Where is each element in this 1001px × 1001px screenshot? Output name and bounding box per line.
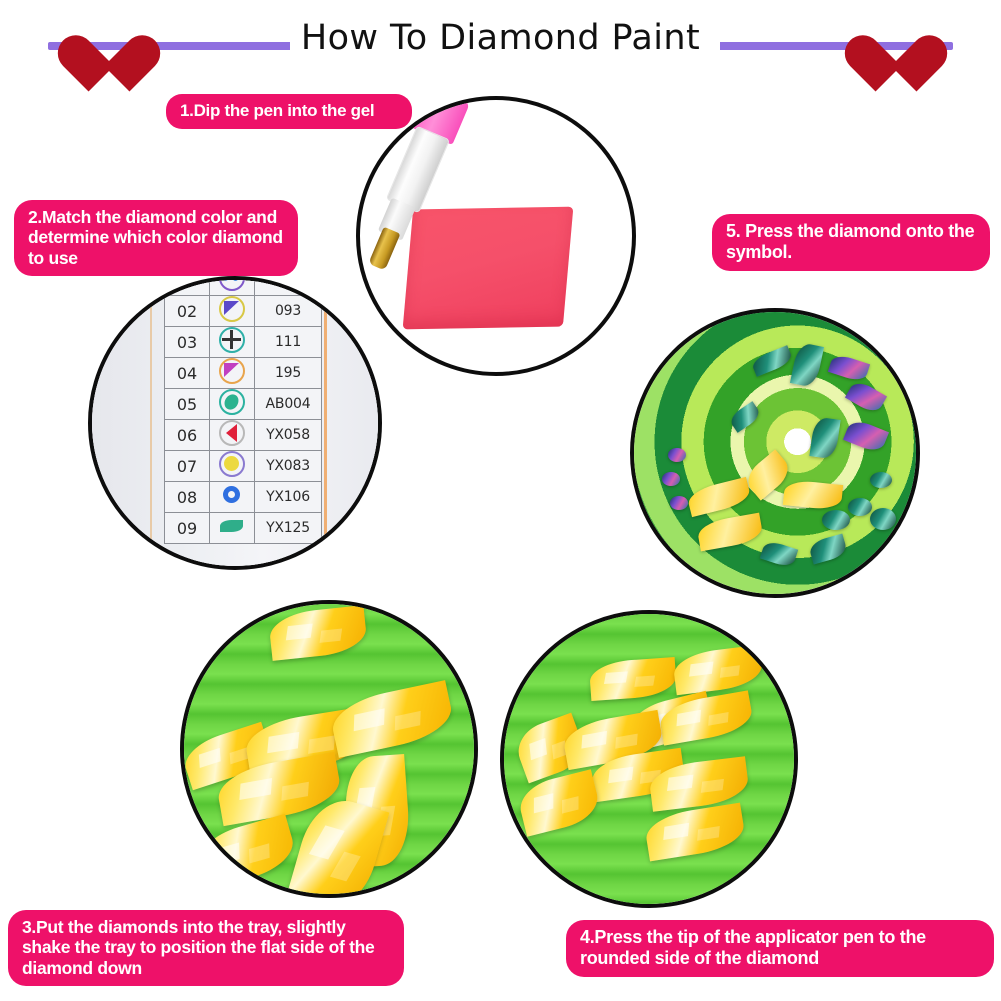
- step-1-label: 1.Dip the pen into the gel: [166, 94, 412, 129]
- chart-cell-symbol: [210, 420, 255, 451]
- step-3-photo: [180, 600, 478, 898]
- page-title: How To Diamond Paint: [0, 16, 1001, 60]
- table-row: 02093: [165, 296, 322, 327]
- chart-cell-number: 05: [165, 389, 210, 420]
- chart-cell-code: AB004: [255, 389, 322, 420]
- gel-pad: [403, 207, 574, 330]
- rhinestone: [870, 508, 896, 530]
- table-row: 06YX058: [165, 420, 322, 451]
- chart-cell-symbol: [210, 276, 255, 296]
- leaf-icon: [219, 513, 245, 539]
- chart-cell-number: 03: [165, 327, 210, 358]
- page-header: How To Diamond Paint: [0, 0, 1001, 80]
- oval-icon: [219, 389, 245, 415]
- step-2-label: 2.Match the diamond color and determine …: [14, 200, 298, 276]
- chart-cell-code: 111: [255, 327, 322, 358]
- arrow-left-icon: [219, 420, 245, 446]
- color-chart-table: 02802093031110419505AB00406YX05807YX0830…: [164, 276, 322, 544]
- chart-cell-symbol: [210, 451, 255, 482]
- chart-cell-number: 04: [165, 358, 210, 389]
- chart-cell-symbol: [210, 327, 255, 358]
- chart-cell-code: YX058: [255, 420, 322, 451]
- chart-cell-code: YX125: [255, 513, 322, 544]
- rhinestone: [670, 496, 688, 510]
- chart-margin-line: [324, 280, 327, 566]
- chart-cell-number: 08: [165, 482, 210, 513]
- chart-cell-number: 02: [165, 296, 210, 327]
- chart-margin-line: [150, 280, 152, 566]
- plus-icon: [219, 327, 245, 353]
- donut-icon: [219, 482, 245, 508]
- triangle-icon: [219, 296, 245, 322]
- chart-cell-number: 06: [165, 420, 210, 451]
- triangle-icon: [219, 358, 245, 384]
- chart-cell-number: 09: [165, 513, 210, 544]
- table-row: 07YX083: [165, 451, 322, 482]
- rhinestone: [668, 448, 686, 462]
- rhinestone: [870, 472, 892, 488]
- step-4-photo: [500, 610, 798, 908]
- step-1-photo: [356, 96, 636, 376]
- chart-cell-number: 07: [165, 451, 210, 482]
- rhinestone: [848, 498, 872, 516]
- chart-cell-symbol: [210, 389, 255, 420]
- table-row: 09YX125: [165, 513, 322, 544]
- chart-cell-code: 195: [255, 358, 322, 389]
- chart-cell-symbol: [210, 482, 255, 513]
- table-row: 03111: [165, 327, 322, 358]
- step-2-photo: 02802093031110419505AB00406YX05807YX0830…: [88, 276, 382, 570]
- chart-cell-code: 028: [255, 276, 322, 296]
- table-row: 028: [165, 276, 322, 296]
- step-3-label: 3.Put the diamonds into the tray, slight…: [8, 910, 404, 986]
- chart-cell-symbol: [210, 358, 255, 389]
- chart-cell-symbol: [210, 513, 255, 544]
- step-5-label: 5. Press the diamond onto the symbol.: [712, 214, 990, 271]
- filled-circle-icon: [219, 451, 245, 477]
- chart-cell-code: YX083: [255, 451, 322, 482]
- pen-tip: [368, 227, 400, 271]
- rhinestone: [662, 472, 680, 486]
- double-dot-icon: [219, 276, 245, 291]
- chart-cell-number: [165, 276, 210, 296]
- chart-cell-code: YX106: [255, 482, 322, 513]
- table-row: 08YX106: [165, 482, 322, 513]
- table-row: 04195: [165, 358, 322, 389]
- step-5-photo: [630, 308, 920, 598]
- rhinestone: [822, 510, 850, 530]
- chart-cell-code: 093: [255, 296, 322, 327]
- table-row: 05AB004: [165, 389, 322, 420]
- chart-cell-symbol: [210, 296, 255, 327]
- step-4-label: 4.Press the tip of the applicator pen to…: [566, 920, 994, 977]
